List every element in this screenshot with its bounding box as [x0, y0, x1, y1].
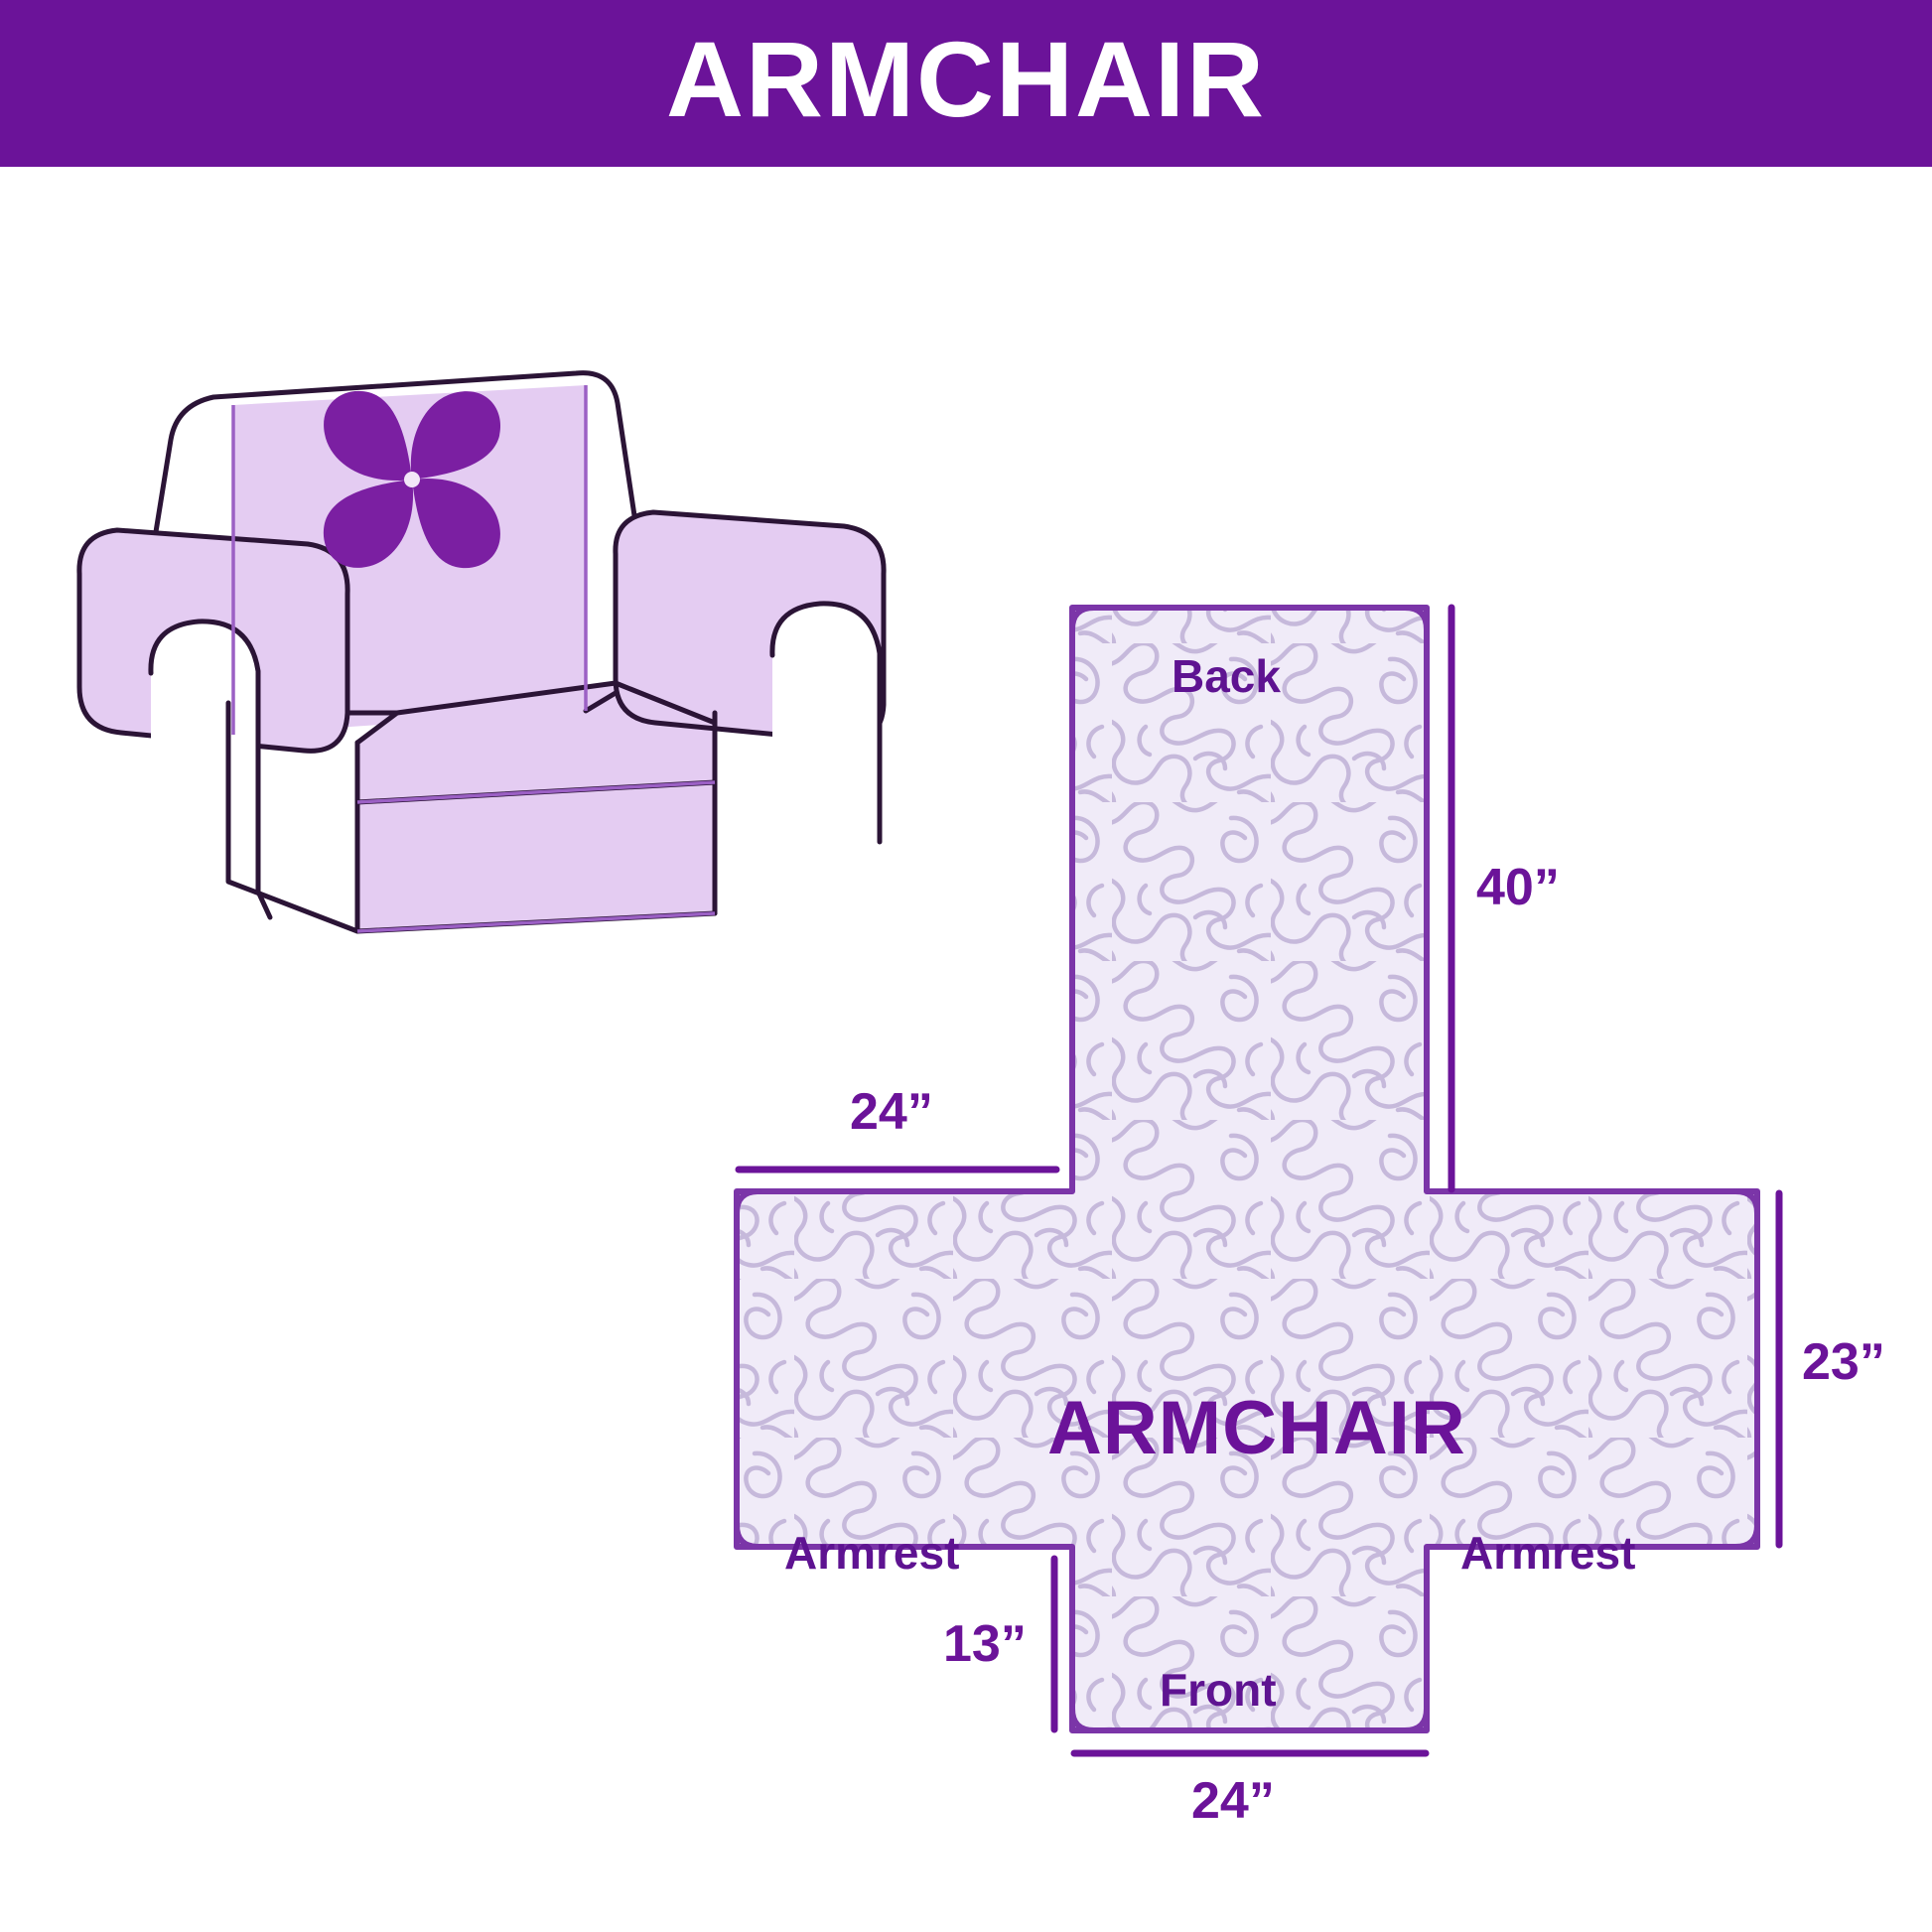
- dimension-label-13: 13”: [943, 1618, 1027, 1670]
- page-title: ARMCHAIR: [666, 26, 1266, 133]
- panel-label-front: Front: [1160, 1667, 1277, 1713]
- header-banner: ARMCHAIR: [0, 0, 1932, 167]
- dimension-label-23: 23”: [1802, 1336, 1885, 1388]
- diagram-stage: .cf { fill:#E4CCF2; } .cw { fill:#FFFFFF…: [0, 167, 1932, 1932]
- dimension-label-40: 40”: [1476, 862, 1560, 913]
- panel-label-seat: ARMCHAIR: [1047, 1391, 1466, 1466]
- panel-label-armrest-left: Armrest: [784, 1530, 959, 1576]
- dimension-label-24-top: 24”: [850, 1086, 933, 1138]
- panel-label-armrest-right: Armrest: [1460, 1530, 1635, 1576]
- panel-label-back: Back: [1172, 653, 1281, 699]
- dimension-label-24-bottom: 24”: [1191, 1775, 1275, 1827]
